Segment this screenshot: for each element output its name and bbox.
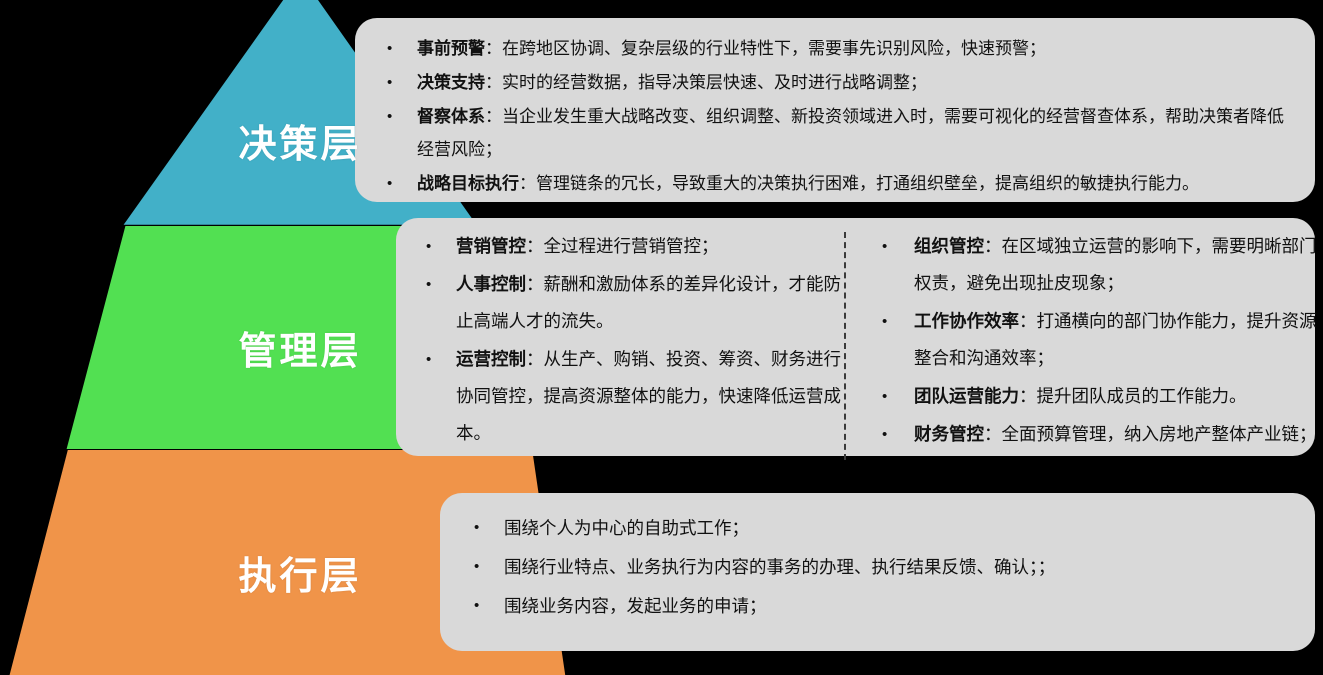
diagram-canvas: 决策层 管理层 执行层 事前预警：在跨地区协调、复杂层级的行业特性下，需要事先识…	[0, 0, 1323, 675]
list-item: 运营控制：从生产、购销、投资、筹资、财务进行协同管控，提高资源整体的能力，快速降…	[410, 341, 844, 452]
bullet-key: 战略目标执行	[417, 174, 519, 193]
list-item: 组织管控：在区域独立运营的影响下，需要明晰部门权责，避免出现扯皮现象；	[874, 228, 1323, 302]
pyramid-tier-execution-label: 执行层	[238, 545, 361, 600]
bullet-sep: ：	[526, 274, 544, 294]
pyramid-tier-management-label: 管理层	[238, 320, 361, 375]
decision-bullet-list: 事前预警：在跨地区协调、复杂层级的行业特性下，需要事先识别风险，快速预警； 决策…	[373, 32, 1299, 200]
bullet-text: 围绕行业特点、业务执行为内容的事务的办理、执行结果反馈、确认；；	[504, 557, 1055, 577]
bullet-sep: ：	[519, 174, 536, 193]
management-right-bullet-list: 组织管控：在区域独立运营的影响下，需要明晰部门权责，避免出现扯皮现象； 工作协作…	[874, 228, 1323, 453]
bullet-key: 人事控制	[456, 274, 526, 294]
list-item: 财务管控：全面预算管理，纳入房地产整体产业链；	[874, 416, 1323, 453]
bullet-sep: ：	[485, 39, 502, 58]
bullet-sep: ：	[1019, 386, 1037, 406]
bullet-text: 在跨地区协调、复杂层级的行业特性下，需要事先识别风险，快速预警；	[502, 39, 1046, 58]
bullet-key: 事前预警	[417, 39, 485, 58]
callout-panel-execution: 围绕个人为中心的自助式工作； 围绕行业特点、业务执行为内容的事务的办理、执行结果…	[440, 493, 1315, 651]
list-item: 围绕业务内容，发起业务的申请；	[468, 587, 1299, 625]
list-item: 围绕行业特点、业务执行为内容的事务的办理、执行结果反馈、确认；；	[468, 548, 1299, 586]
bullet-text: 当企业发生重大战略改变、组织调整、新投资领域进入时，需要可视化的经营督查体系，帮…	[417, 107, 1284, 159]
callout-panel-management: 营销管控：全过程进行营销管控； 人事控制：薪酬和激励体系的差异化设计，才能防止高…	[396, 218, 1315, 456]
bullet-key: 财务管控	[914, 424, 984, 444]
bullet-text: 全过程进行营销管控；	[544, 236, 719, 256]
bullet-text: 实时的经营数据，指导决策层快速、及时进行战略调整；	[502, 73, 927, 92]
bullet-text: 管理链条的冗长，导致重大的决策执行困难，打通组织壁垒，提高组织的敏捷执行能力。	[536, 174, 1199, 193]
list-item: 工作协作效率：打通横向的部门协作能力，提升资源整合和沟通效率；	[874, 303, 1323, 377]
bullet-key: 组织管控	[914, 236, 984, 256]
bullet-sep: ：	[485, 73, 502, 92]
list-item: 战略目标执行：管理链条的冗长，导致重大的决策执行困难，打通组织壁垒，提高组织的敏…	[373, 167, 1299, 200]
bullet-sep: ：	[984, 236, 1002, 256]
bullet-key: 运营控制	[456, 349, 526, 369]
management-left-column: 营销管控：全过程进行营销管控； 人事控制：薪酬和激励体系的差异化设计，才能防止高…	[410, 228, 844, 446]
bullet-key: 工作协作效率	[914, 311, 1019, 331]
bullet-sep: ：	[526, 349, 544, 369]
bullet-key: 决策支持	[417, 73, 485, 92]
list-item: 督察体系：当企业发生重大战略改变、组织调整、新投资领域进入时，需要可视化的经营督…	[373, 100, 1299, 166]
bullet-sep: ：	[1019, 311, 1037, 331]
bullet-key: 督察体系	[417, 107, 485, 126]
callout-panel-decision: 事前预警：在跨地区协调、复杂层级的行业特性下，需要事先识别风险，快速预警； 决策…	[355, 18, 1315, 202]
management-left-bullet-list: 营销管控：全过程进行营销管控； 人事控制：薪酬和激励体系的差异化设计，才能防止高…	[410, 228, 844, 452]
list-item: 营销管控：全过程进行营销管控；	[410, 228, 844, 265]
pyramid-tier-decision-label: 决策层	[238, 113, 361, 168]
bullet-key: 营销管控	[456, 236, 526, 256]
list-item: 事前预警：在跨地区协调、复杂层级的行业特性下，需要事先识别风险，快速预警；	[373, 32, 1299, 65]
list-item: 团队运营能力：提升团队成员的工作能力。	[874, 378, 1323, 415]
execution-bullet-list: 围绕个人为中心的自助式工作； 围绕行业特点、业务执行为内容的事务的办理、执行结果…	[468, 509, 1299, 625]
list-item: 人事控制：薪酬和激励体系的差异化设计，才能防止高端人才的流失。	[410, 266, 844, 340]
bullet-text: 提升团队成员的工作能力。	[1037, 386, 1247, 406]
management-right-column: 组织管控：在区域独立运营的影响下，需要明晰部门权责，避免出现扯皮现象； 工作协作…	[846, 228, 1323, 446]
bullet-text: 围绕业务内容，发起业务的申请；	[504, 596, 767, 616]
bullet-text: 围绕个人为中心的自助式工作；	[504, 518, 749, 538]
management-columns: 营销管控：全过程进行营销管控； 人事控制：薪酬和激励体系的差异化设计，才能防止高…	[410, 228, 1301, 446]
bullet-text: 全面预算管理，纳入房地产整体产业链；	[1002, 424, 1317, 444]
bullet-sep: ：	[984, 424, 1002, 444]
bullet-sep: ：	[485, 107, 502, 126]
list-item: 围绕个人为中心的自助式工作；	[468, 509, 1299, 547]
list-item: 决策支持：实时的经营数据，指导决策层快速、及时进行战略调整；	[373, 66, 1299, 99]
bullet-key: 团队运营能力	[914, 386, 1019, 406]
bullet-sep: ：	[526, 236, 544, 256]
